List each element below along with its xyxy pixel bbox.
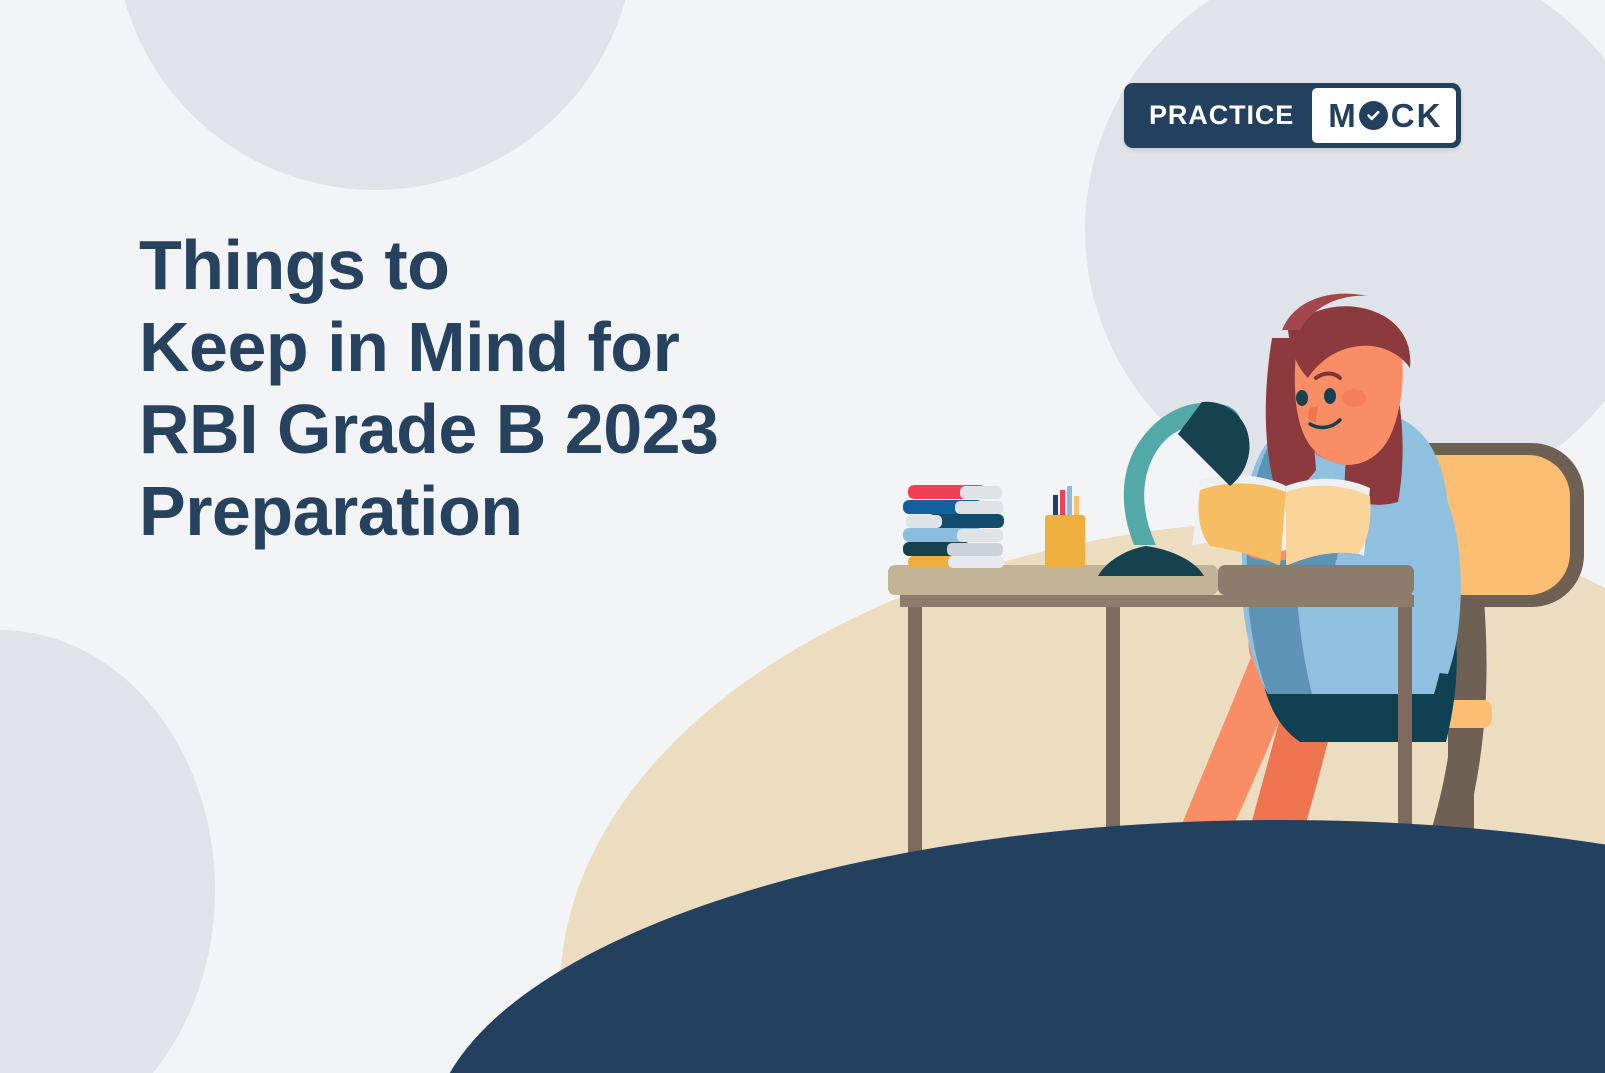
headline-line-4: Preparation: [139, 471, 718, 553]
check-icon: [1359, 101, 1388, 130]
headline-title: Things to Keep in Mind for RBI Grade B 2…: [139, 225, 718, 553]
pencil-holder: [1045, 486, 1085, 567]
logo-mock-plate: M C K: [1312, 88, 1456, 143]
logo-mock-letter-m: M: [1328, 99, 1356, 132]
promotional-banner: PRACTICE M C K Things to Keep in Mind fo…: [0, 0, 1605, 1073]
logo-mock-letter-k: K: [1417, 99, 1441, 132]
book-stack: [903, 485, 1004, 568]
logo-mock-letter-c: C: [1391, 99, 1415, 132]
logo-practice-text: PRACTICE: [1129, 88, 1312, 143]
headline-line-2: Keep in Mind for: [139, 307, 718, 389]
headline-line-3: RBI Grade B 2023: [139, 389, 718, 471]
headline-line-1: Things to: [139, 225, 718, 307]
practicemock-logo[interactable]: PRACTICE M C K: [1124, 83, 1461, 148]
